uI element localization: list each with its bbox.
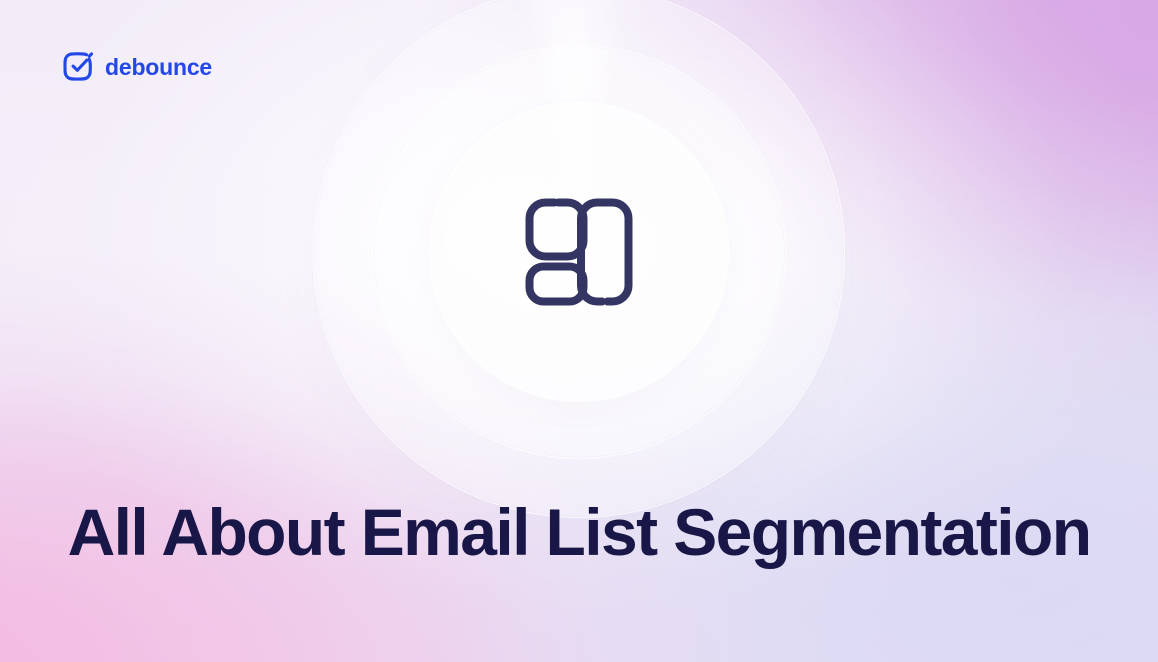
brand-wordmark: debounce [105,56,212,79]
dashboard-layout-icon [525,198,633,306]
check-badge-icon [62,50,96,84]
brand-logo[interactable]: debounce [62,50,212,84]
blog-cover-banner: debounce All About Email List Segmentati… [0,0,1158,662]
page-title: All About Email List Segmentation [0,493,1158,571]
